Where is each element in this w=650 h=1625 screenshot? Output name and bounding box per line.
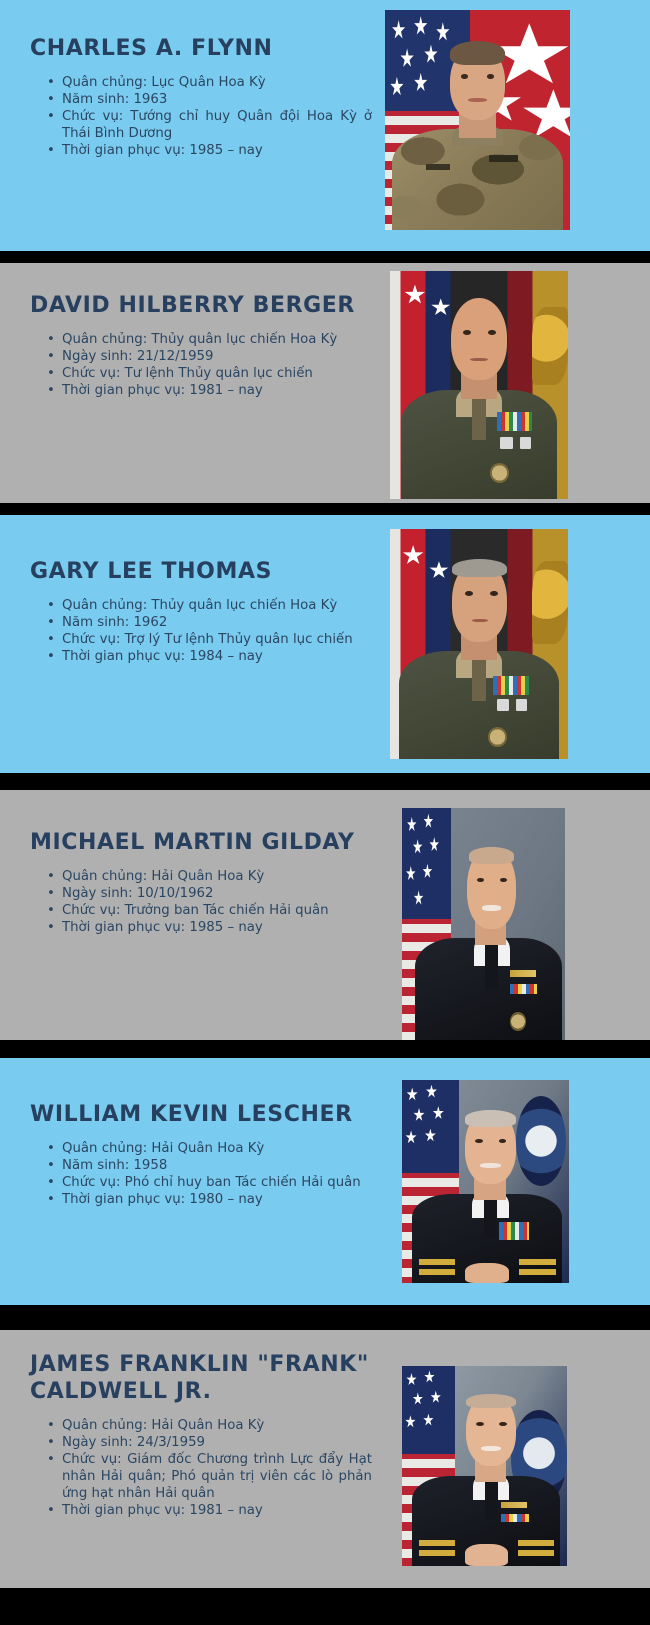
list-item: •Ngày sinh: 10/10/1962	[47, 885, 372, 902]
list-item-text: Quân chủng: Thủy quân lục chiến Hoa Kỳ	[62, 332, 337, 347]
detail-list-2: •Quân chủng: Thủy quân lục chiến Hoa Kỳ …	[30, 331, 372, 400]
list-item: •Chức vụ: Giám đốc Chương trình Lực đẩy …	[47, 1451, 372, 1502]
list-item-text: Quân chủng: Hải Quân Hoa Kỳ	[62, 1141, 264, 1156]
page-title: MICHAEL MARTIN GILDAY	[30, 830, 372, 857]
bullet-icon: •	[47, 919, 55, 936]
bullet-icon: •	[47, 1191, 55, 1208]
list-item-text: Thời gian phục vụ: 1985 – nay	[62, 143, 263, 158]
bullet-icon: •	[47, 1417, 55, 1434]
detail-list-3: •Quân chủng: Thủy quân lục chiến Hoa Kỳ …	[30, 597, 372, 666]
list-item: •Thời gian phục vụ: 1981 – nay	[47, 1502, 372, 1519]
list-item: •Quân chủng: Thủy quân lục chiến Hoa Kỳ	[47, 597, 372, 614]
bullet-icon: •	[47, 1434, 55, 1451]
portrait-william-lescher	[402, 1080, 569, 1283]
list-item-text: Thời gian phục vụ: 1981 – nay	[62, 383, 263, 398]
bullet-icon: •	[47, 348, 55, 365]
list-item: •Chức vụ: Trợ lý Tư lệnh Thủy quân lục c…	[47, 631, 372, 648]
portrait-david-berger	[390, 271, 568, 499]
person-panel-6: JAMES FRANKLIN "FRANK" CALDWELL JR. •Quâ…	[0, 1330, 650, 1588]
list-item: •Năm sinh: 1963	[47, 91, 372, 108]
panel-text-1: CHARLES A. FLYNN •Quân chủng: Lục Quân H…	[0, 0, 380, 160]
list-item: •Chức vụ: Tướng chỉ huy Quân đội Hoa Kỳ …	[47, 108, 372, 142]
list-item-text: Thời gian phục vụ: 1981 – nay	[62, 1503, 263, 1518]
detail-list-5: •Quân chủng: Hải Quân Hoa Kỳ •Năm sinh: …	[30, 1140, 372, 1209]
list-item: •Thời gian phục vụ: 1980 – nay	[47, 1191, 372, 1208]
bullet-icon: •	[47, 631, 55, 648]
list-item-text: Thời gian phục vụ: 1985 – nay	[62, 920, 263, 935]
page-title: DAVID HILBERRY BERGER	[30, 293, 372, 320]
page-title: WILLIAM KEVIN LESCHER	[30, 1102, 372, 1129]
list-item-text: Quân chủng: Hải Quân Hoa Kỳ	[62, 869, 264, 884]
list-item: •Chức vụ: Tư lệnh Thủy quân lục chiến	[47, 365, 372, 382]
list-item-text: Năm sinh: 1963	[62, 92, 167, 107]
list-item-text: Chức vụ: Tướng chỉ huy Quân đội Hoa Kỳ ở…	[62, 109, 372, 141]
bullet-icon: •	[47, 885, 55, 902]
list-item-text: Thời gian phục vụ: 1984 – nay	[62, 649, 263, 664]
list-item-text: Quân chủng: Thủy quân lục chiến Hoa Kỳ	[62, 598, 337, 613]
page-title: GARY LEE THOMAS	[30, 559, 372, 586]
panel-text-3: GARY LEE THOMAS •Quân chủng: Thủy quân l…	[0, 515, 380, 665]
person-panel-1: CHARLES A. FLYNN •Quân chủng: Lục Quân H…	[0, 0, 650, 251]
list-item-text: Năm sinh: 1958	[62, 1158, 167, 1173]
list-item: •Quân chủng: Hải Quân Hoa Kỳ	[47, 1417, 372, 1434]
list-item-text: Chức vụ: Giám đốc Chương trình Lực đẩy H…	[62, 1452, 372, 1501]
bullet-icon: •	[47, 382, 55, 399]
panel-text-4: MICHAEL MARTIN GILDAY •Quân chủng: Hải Q…	[0, 790, 380, 936]
list-item-text: Quân chủng: Hải Quân Hoa Kỳ	[62, 1418, 264, 1433]
detail-list-6: •Quân chủng: Hải Quân Hoa Kỳ •Ngày sinh:…	[30, 1417, 372, 1520]
list-item-text: Ngày sinh: 21/12/1959	[62, 349, 213, 364]
infographic-root: CHARLES A. FLYNN •Quân chủng: Lục Quân H…	[0, 0, 650, 1625]
bullet-icon: •	[47, 614, 55, 631]
portrait-wrap-6	[402, 1366, 567, 1566]
list-item: •Thời gian phục vụ: 1984 – nay	[47, 648, 372, 665]
bullet-icon: •	[47, 1502, 55, 1519]
list-item: •Năm sinh: 1958	[47, 1157, 372, 1174]
list-item-text: Chức vụ: Phó chỉ huy ban Tác chiến Hải q…	[62, 1175, 361, 1190]
separator-bar	[0, 773, 650, 790]
page-title: CHARLES A. FLYNN	[30, 36, 372, 63]
portrait-james-caldwell	[402, 1366, 567, 1566]
list-item: •Thời gian phục vụ: 1981 – nay	[47, 382, 372, 399]
separator-bar	[0, 1040, 650, 1058]
list-item: •Quân chủng: Lục Quân Hoa Kỳ	[47, 74, 372, 91]
list-item: •Chức vụ: Phó chỉ huy ban Tác chiến Hải …	[47, 1174, 372, 1191]
bullet-icon: •	[47, 1157, 55, 1174]
list-item: •Quân chủng: Thủy quân lục chiến Hoa Kỳ	[47, 331, 372, 348]
portrait-wrap-4	[402, 808, 565, 1040]
detail-list-1: •Quân chủng: Lục Quân Hoa Kỳ •Năm sinh: …	[30, 74, 372, 160]
portrait-wrap-2	[390, 271, 568, 499]
bullet-icon: •	[47, 1140, 55, 1157]
portrait-wrap-1	[385, 10, 570, 230]
list-item-text: Ngày sinh: 24/3/1959	[62, 1435, 205, 1450]
list-item: •Ngày sinh: 21/12/1959	[47, 348, 372, 365]
bullet-icon: •	[47, 648, 55, 665]
list-item-text: Chức vụ: Trợ lý Tư lệnh Thủy quân lục ch…	[62, 632, 353, 647]
bullet-icon: •	[47, 365, 55, 382]
list-item: •Quân chủng: Hải Quân Hoa Kỳ	[47, 1140, 372, 1157]
bullet-icon: •	[47, 74, 55, 91]
list-item-text: Ngày sinh: 10/10/1962	[62, 886, 213, 901]
separator-bar	[0, 503, 650, 515]
bullet-icon: •	[47, 142, 55, 159]
list-item: •Chức vụ: Trưởng ban Tác chiến Hải quân	[47, 902, 372, 919]
portrait-charles-flynn	[385, 10, 570, 230]
portrait-gary-thomas	[390, 529, 568, 759]
list-item: •Năm sinh: 1962	[47, 614, 372, 631]
separator-bar	[0, 251, 650, 263]
list-item-text: Quân chủng: Lục Quân Hoa Kỳ	[62, 75, 266, 90]
separator-bar	[0, 1305, 650, 1330]
panel-text-5: WILLIAM KEVIN LESCHER •Quân chủng: Hải Q…	[0, 1058, 380, 1208]
portrait-michael-gilday	[402, 808, 565, 1040]
bullet-icon: •	[47, 108, 55, 125]
list-item-text: Chức vụ: Tư lệnh Thủy quân lục chiến	[62, 366, 313, 381]
list-item-text: Thời gian phục vụ: 1980 – nay	[62, 1192, 263, 1207]
person-panel-5: WILLIAM KEVIN LESCHER •Quân chủng: Hải Q…	[0, 1058, 650, 1305]
list-item-text: Chức vụ: Trưởng ban Tác chiến Hải quân	[62, 903, 329, 918]
detail-list-4: •Quân chủng: Hải Quân Hoa Kỳ •Ngày sinh:…	[30, 868, 372, 937]
bullet-icon: •	[47, 331, 55, 348]
bullet-icon: •	[47, 91, 55, 108]
portrait-wrap-5	[402, 1080, 569, 1283]
list-item: •Thời gian phục vụ: 1985 – nay	[47, 919, 372, 936]
list-item-text: Năm sinh: 1962	[62, 615, 167, 630]
bullet-icon: •	[47, 597, 55, 614]
panel-text-6: JAMES FRANKLIN "FRANK" CALDWELL JR. •Quâ…	[0, 1330, 380, 1520]
portrait-wrap-3	[390, 529, 568, 759]
list-item: •Ngày sinh: 24/3/1959	[47, 1434, 372, 1451]
person-panel-4: MICHAEL MARTIN GILDAY •Quân chủng: Hải Q…	[0, 790, 650, 1040]
person-panel-2: DAVID HILBERRY BERGER •Quân chủng: Thủy …	[0, 263, 650, 503]
list-item: •Quân chủng: Hải Quân Hoa Kỳ	[47, 868, 372, 885]
page-title: JAMES FRANKLIN "FRANK" CALDWELL JR.	[30, 1352, 372, 1406]
person-panel-3: GARY LEE THOMAS •Quân chủng: Thủy quân l…	[0, 515, 650, 773]
panel-text-2: DAVID HILBERRY BERGER •Quân chủng: Thủy …	[0, 263, 380, 399]
bullet-icon: •	[47, 868, 55, 885]
bullet-icon: •	[47, 1451, 55, 1468]
bullet-icon: •	[47, 902, 55, 919]
list-item: •Thời gian phục vụ: 1985 – nay	[47, 142, 372, 159]
bullet-icon: •	[47, 1174, 55, 1191]
